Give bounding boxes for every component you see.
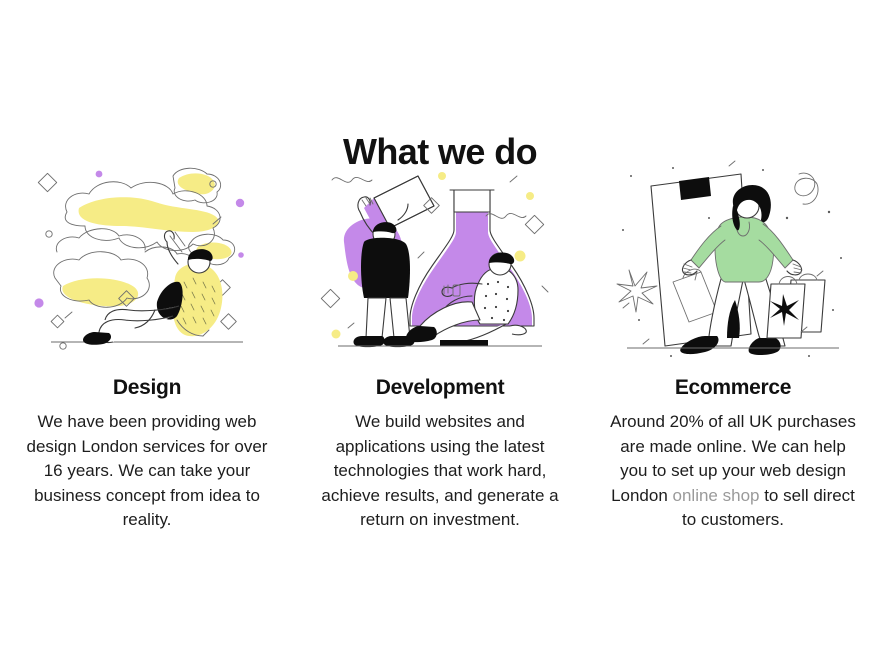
card-body-development: We build websites and applications using… (313, 410, 568, 533)
design-illustration (27, 160, 267, 365)
development-illustration (320, 160, 560, 365)
development-illustration-svg (320, 160, 560, 365)
service-cards-row: Design We have been providing web design… (0, 160, 880, 550)
card-body-ecommerce: Around 20% of all UK purchases are made … (606, 410, 861, 533)
ecommerce-illustration-svg (613, 160, 853, 365)
card-title-ecommerce: Ecommerce (675, 375, 791, 401)
ecommerce-illustration (613, 160, 853, 365)
service-card-development[interactable]: Development We build websites and applic… (294, 160, 587, 550)
online-shop-link[interactable]: online shop (673, 486, 760, 505)
service-card-design[interactable]: Design We have been providing web design… (1, 160, 294, 550)
what-we-do-section: What we do (0, 0, 880, 656)
card-body-design: We have been providing web design London… (20, 410, 275, 533)
card-title-design: Design (113, 375, 181, 401)
card-title-development: Development (376, 375, 505, 401)
service-card-ecommerce[interactable]: Ecommerce Around 20% of all UK purchases… (587, 160, 880, 550)
design-illustration-svg (27, 160, 267, 365)
